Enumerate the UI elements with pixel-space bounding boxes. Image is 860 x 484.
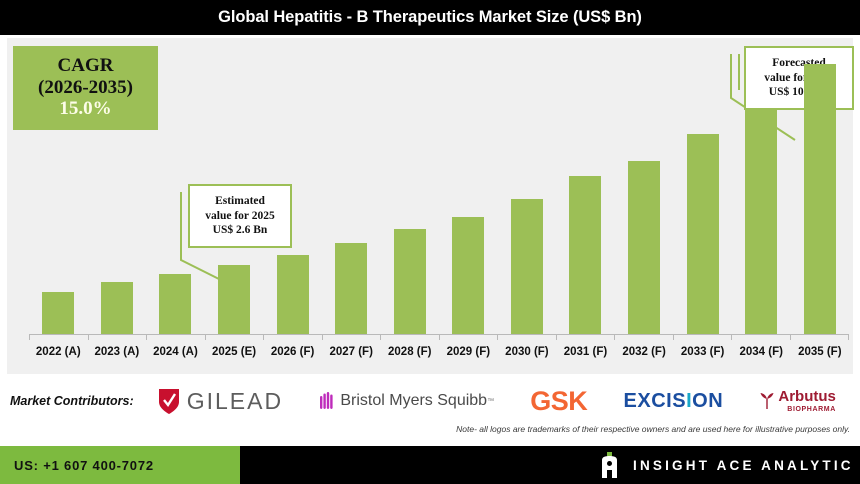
bar-2035F: [804, 64, 836, 334]
x-tick: [791, 334, 850, 340]
bar-2030F: [511, 199, 543, 334]
bar-slot: [673, 48, 732, 334]
logo-list: GILEAD Bristol Myers Squibb ™ GSK EXCISI…: [134, 386, 860, 417]
logo-excision: EXCISION: [624, 390, 724, 413]
x-label-2034F: 2034 (F): [732, 341, 791, 365]
x-label-2023A: 2023 (A): [88, 341, 147, 365]
screenshot-root: Global Hepatitis - B Therapeutics Market…: [0, 0, 860, 484]
logo-bristol-myers-squibb: Bristol Myers Squibb ™: [319, 391, 494, 411]
bar-2025E: [218, 265, 250, 334]
x-tick: [674, 334, 733, 340]
bar-slot: [29, 48, 88, 334]
x-tick: [381, 334, 440, 340]
x-tick: [147, 334, 206, 340]
x-label-2022A: 2022 (A): [29, 341, 88, 365]
bar-2024A: [159, 274, 191, 334]
x-tick: [323, 334, 382, 340]
arbutus-text-block: Arbutus BIOPHARMA: [778, 389, 836, 413]
excision-wordmark: EXCISION: [624, 390, 724, 413]
bar-slot: [498, 48, 557, 334]
bar-2022A: [42, 292, 74, 334]
gsk-wordmark: GSK: [530, 386, 587, 417]
x-tick: [732, 334, 791, 340]
x-label-2032F: 2032 (F): [615, 341, 674, 365]
excision-part1: EXCIS: [624, 390, 687, 412]
page-title: Global Hepatitis - B Therapeutics Market…: [218, 8, 642, 27]
x-axis-ticks: [29, 334, 849, 340]
bar-slot: [439, 48, 498, 334]
x-label-2031F: 2031 (F): [556, 341, 615, 365]
x-tick: [264, 334, 323, 340]
insight-ace-logo-icon: [600, 452, 619, 478]
bar-slot: [146, 48, 205, 334]
footer-phone[interactable]: US: +1 607 400-7072: [14, 458, 154, 473]
logo-gsk: GSK: [530, 386, 587, 417]
x-tick: [615, 334, 674, 340]
x-label-2025E: 2025 (E): [205, 341, 264, 365]
title-bar: Global Hepatitis - B Therapeutics Market…: [0, 0, 860, 35]
bar-2031F: [569, 176, 601, 334]
bar-2033F: [687, 134, 719, 334]
bar-slot: [791, 48, 850, 334]
x-label-2033F: 2033 (F): [673, 341, 732, 365]
arbutus-subtitle: BIOPHARMA: [778, 406, 836, 413]
brand-block: INSIGHT ACE ANALYTIC: [600, 446, 854, 484]
x-label-2026F: 2026 (F): [263, 341, 322, 365]
bms-mark-icon: [319, 391, 335, 411]
logo-arbutus: Arbutus BIOPHARMA: [759, 389, 836, 413]
gilead-wordmark: GILEAD: [187, 388, 283, 415]
bar-slot: [380, 48, 439, 334]
x-label-2029F: 2029 (F): [439, 341, 498, 365]
x-label-2027F: 2027 (F): [322, 341, 381, 365]
bar-2029F: [452, 217, 484, 334]
bar-2034F: [745, 109, 777, 334]
bar-slot: [263, 48, 322, 334]
x-tick: [29, 334, 89, 340]
gilead-shield-icon: [158, 387, 180, 415]
bar-2028F: [394, 229, 426, 334]
x-label-2024A: 2024 (A): [146, 341, 205, 365]
bms-trademark-icon: ™: [487, 398, 494, 405]
arbutus-wordmark: Arbutus: [778, 389, 836, 404]
market-contributors-label: Market Contributors:: [10, 394, 134, 408]
logo-gilead: GILEAD: [158, 387, 283, 415]
bar-slot: [322, 48, 381, 334]
bar-slot: [732, 48, 791, 334]
x-tick: [557, 334, 616, 340]
excision-part2: ON: [692, 390, 723, 412]
arbutus-leaf-icon: [759, 392, 775, 410]
x-tick: [498, 334, 557, 340]
bar-2023A: [101, 282, 133, 334]
bar-2027F: [335, 243, 367, 334]
brand-name: INSIGHT ACE ANALYTIC: [633, 458, 854, 473]
market-contributors-strip: Market Contributors: GILEAD Bristol Myer…: [0, 378, 860, 424]
x-tick: [89, 334, 148, 340]
bar-slot: [615, 48, 674, 334]
bar-slot: [556, 48, 615, 334]
x-tick: [440, 334, 499, 340]
chart-panel: CAGR (2026-2035) 15.0% Estimated value f…: [6, 37, 854, 375]
x-tick: [206, 334, 265, 340]
bar-slot: [205, 48, 264, 334]
trademark-note: Note- all logos are trademarks of their …: [456, 424, 850, 434]
bar-2032F: [628, 161, 660, 334]
x-label-2028F: 2028 (F): [380, 341, 439, 365]
bar-2026F: [277, 255, 309, 334]
footer-contact-block: US: +1 607 400-7072: [0, 446, 240, 484]
footer-bar: US: +1 607 400-7072 INSIGHT ACE ANALYTIC: [0, 446, 860, 484]
bar-slot: [88, 48, 147, 334]
x-axis-labels: 2022 (A)2023 (A)2024 (A)2025 (E)2026 (F)…: [29, 341, 849, 365]
x-label-2030F: 2030 (F): [498, 341, 557, 365]
bar-series: [29, 48, 849, 334]
x-label-2035F: 2035 (F): [791, 341, 850, 365]
bms-wordmark: Bristol Myers Squibb: [340, 392, 487, 410]
